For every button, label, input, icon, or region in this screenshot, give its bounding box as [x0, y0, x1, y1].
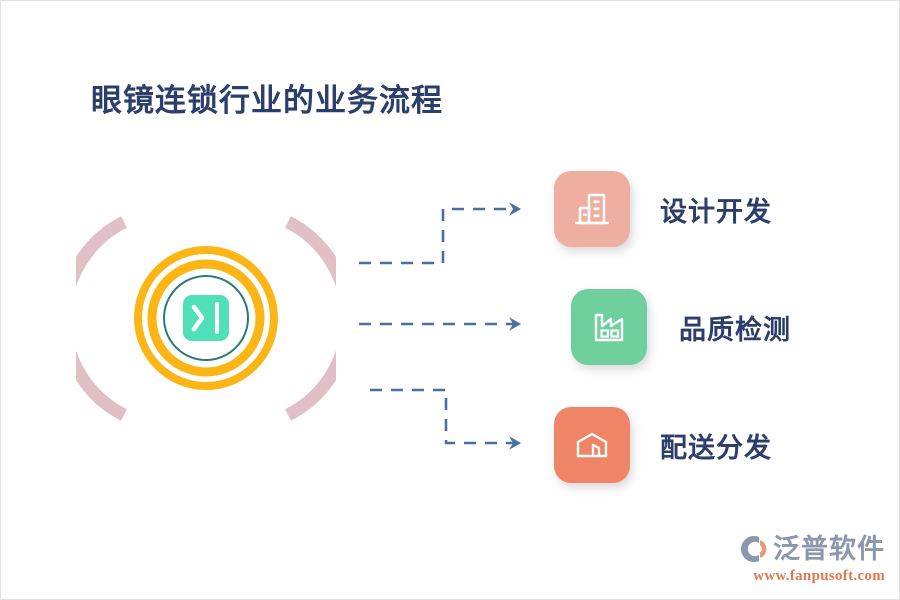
brand-footer: 泛普软件 www.fanpusoft.com — [735, 533, 885, 585]
warehouse-icon — [572, 425, 612, 465]
brand-top-row: 泛普软件 — [735, 533, 885, 565]
process-step-distribution[interactable]: 配送分发 — [554, 407, 772, 483]
connector-group — [346, 176, 546, 466]
process-step-design[interactable]: 设计开发 — [554, 171, 772, 247]
left-arc-bracket — [76, 222, 124, 415]
factory-icon — [589, 307, 629, 347]
step-label-design: 设计开发 — [660, 190, 772, 229]
central-process-emblem — [76, 206, 336, 431]
office-building-icon — [572, 189, 612, 229]
step-tile-design[interactable] — [554, 171, 630, 247]
step-label-quality: 品质检测 — [679, 308, 791, 347]
connector-to-step-1 — [359, 209, 519, 263]
fanpu-logo-icon — [735, 533, 771, 565]
right-arc-bracket — [288, 222, 336, 415]
terminal-prompt-icon — [183, 295, 229, 341]
process-step-quality[interactable]: 品质检测 — [571, 289, 791, 365]
brand-url: www.fanpusoft.com — [753, 568, 885, 585]
step-tile-quality[interactable] — [571, 289, 647, 365]
brand-name: 泛普软件 — [773, 536, 885, 563]
connector-to-step-3 — [370, 390, 519, 443]
page-title: 眼镜连锁行业的业务流程 — [91, 75, 443, 120]
step-label-distribution: 配送分发 — [660, 426, 772, 465]
step-tile-distribution[interactable] — [554, 407, 630, 483]
slide-canvas: 眼镜连锁行业的业务流程 — [0, 0, 900, 600]
